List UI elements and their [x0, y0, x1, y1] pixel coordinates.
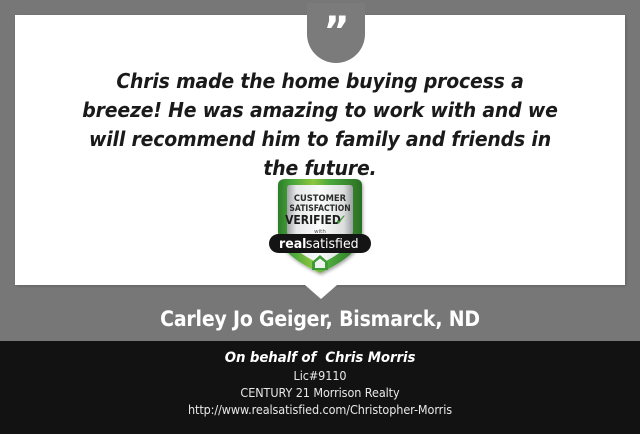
card-notch-triangle [305, 285, 337, 299]
testimonial-quote-text: Chris made the home buying process a bre… [74, 67, 565, 183]
badge-brand-bold: real [279, 237, 306, 253]
badge-checkmark-icon: ✓ [335, 211, 348, 229]
agent-brokerage: CENTURY 21 Morrison Realty [32, 385, 608, 400]
testimonial-card-root: ” Chris made the home buying process a b… [0, 0, 640, 434]
badge-line3: VERIFIED [285, 212, 341, 227]
verified-badge: CUSTOMER SATISFACTION VERIFIED ✓ with re… [15, 175, 625, 281]
agent-license: Lic#9110 [32, 368, 608, 383]
quote-glyph: ” [307, 15, 365, 49]
reviewer-name-location: Carley Jo Geiger, Bismarck, ND [32, 307, 608, 331]
agent-on-behalf-of: On behalf of Chris Morris [26, 350, 615, 366]
footer: On behalf of Chris Morris Lic#9110 CENTU… [0, 341, 640, 434]
badge-brand-light: satisfied [306, 237, 359, 253]
quote-card: ” Chris made the home buying process a b… [15, 15, 625, 285]
realsatisfied-badge-svg: CUSTOMER SATISFACTION VERIFIED ✓ with re… [265, 175, 375, 279]
quote-mark-icon: ” [307, 3, 365, 63]
agent-profile-url[interactable]: http://www.realsatisfied.com/Christopher… [32, 402, 608, 417]
